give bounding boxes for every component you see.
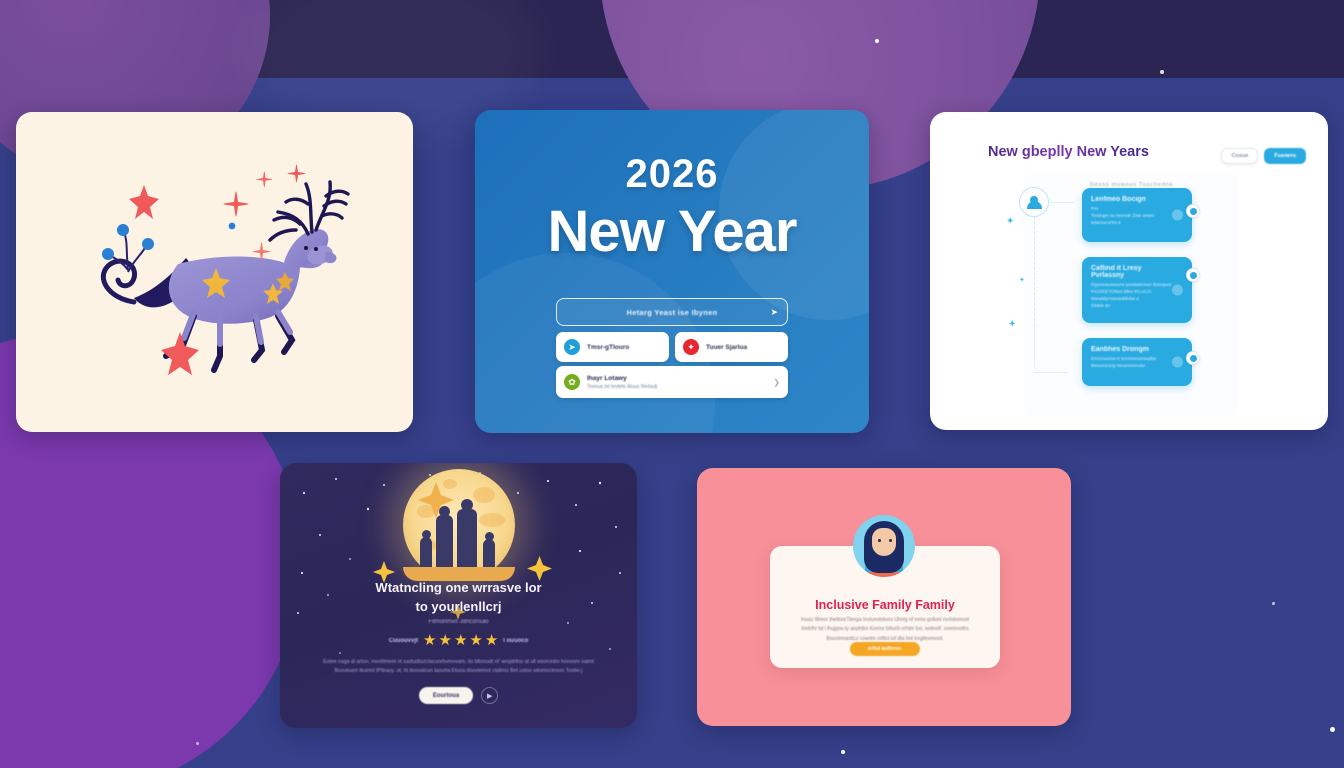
flow-node-3-pin[interactable] (1186, 351, 1200, 365)
quick-action-label-2: Tuuer Sjarlua (706, 344, 747, 351)
flow-node-1-title: Lenfmeo Bocign (1091, 196, 1183, 203)
flow-connector-horizontal (1034, 326, 1068, 372)
moon-cta-row: Eourtoua ▶ (280, 687, 637, 704)
flow-title: New gbeplly New Years (988, 144, 1149, 160)
moon-illustration (403, 469, 515, 581)
family-adult-right (457, 509, 477, 567)
primary-button[interactable]: Fusneru (1264, 148, 1306, 164)
family-adult-left (436, 515, 453, 567)
alert-icon: ✦ (683, 339, 699, 355)
flow-node-3-title: Eanbhes Drongm (1091, 346, 1183, 353)
wide-list-row[interactable]: ✿ Ihayr Lotawy Toonus txt tevtets Aluus … (556, 366, 788, 398)
background-dot (875, 39, 879, 43)
family-child-right-head (485, 532, 494, 541)
star-icon: ★ (438, 633, 451, 648)
family-child-right (483, 539, 495, 567)
deer-svg (16, 112, 413, 432)
flow-actions: Cosue Fusneru (1221, 148, 1306, 164)
card-deer-illustration[interactable] (16, 112, 413, 432)
wide-row-text: Ihayr Lotawy Toonus txt tevtets Aluus Ni… (587, 375, 657, 390)
avatar-face (872, 528, 896, 556)
pink-body-text: Inoaz Wreor thettoorTlenga Invtunvtotvoo… (794, 616, 976, 644)
star-icon: ★ (485, 633, 498, 648)
search-input-value: Hetarg Yeast ise Ibynen (627, 308, 718, 317)
new-year-year: 2026 (475, 152, 869, 197)
moon-cta-button[interactable]: Eourtoua (419, 687, 473, 704)
background-dot (1160, 70, 1164, 74)
flow-node-1[interactable]: Lenfmeo Bocign Pro Toodupn ou Norvuk Znt… (1082, 188, 1192, 242)
clock-icon (1172, 285, 1183, 296)
avatar-body (1027, 201, 1042, 209)
flow-connector-horizontal (1034, 372, 1068, 373)
telegram-icon: ➤ (564, 339, 580, 355)
sparkle-icon: ✦ (1006, 216, 1014, 227)
card-moon-family[interactable]: Wtatncling one wrrasve lor to yourlenllc… (280, 463, 637, 728)
background-dot (1330, 727, 1335, 732)
flow-node-3-body: Drozzuunve-rt trmzizenonsupbu Btnvonzung… (1091, 356, 1183, 370)
star-icon: ★ (454, 633, 467, 648)
background-dot (841, 750, 845, 754)
family-adult-right-head (461, 499, 473, 511)
gear-icon (1172, 210, 1183, 221)
wide-row-subtitle: Toonus txt tevtets Aluus Nivlaulj (587, 384, 657, 390)
moon-headline: Wtatncling one wrrasve lor to yourlenllc… (280, 579, 637, 617)
avatar-eye-left (878, 539, 881, 542)
flow-node-2-pin[interactable] (1186, 268, 1200, 282)
rating-caption-left: Cuuouvvjt (389, 638, 418, 644)
moon-subtitle: Filmonmvo Jdnconsao (280, 619, 637, 625)
family-child-left-head (422, 530, 431, 539)
wide-row-title: Ihayr Lotawy (587, 375, 657, 382)
pink-cta-button[interactable]: mftul auftrron. (850, 642, 920, 656)
flow-node-1-body: Pro Toodupn ou Norvuk Znte anteo telarou… (1091, 206, 1183, 227)
family-child-left (420, 537, 432, 567)
search-input[interactable]: Hetarg Yeast ise Ibynen ➤ (556, 298, 788, 326)
flow-connector-vertical (1034, 216, 1035, 326)
star-rating[interactable]: ★ ★ ★ ★ ★ (423, 633, 498, 648)
woman-avatar-icon (853, 515, 915, 577)
background-dot (196, 742, 199, 745)
star-icon: ★ (469, 633, 482, 648)
sparkle-icon: ✦ (1008, 319, 1016, 330)
leaf-icon: ✿ (564, 374, 580, 390)
play-circle-icon[interactable]: ▶ (481, 687, 498, 704)
card-flow-diagram[interactable]: New gbeplly New Years Cosue Fusneru Gess… (930, 112, 1328, 430)
quick-action-row: ➤ Tmsr-gTlouro ✦ Tuuer Sjarlua (556, 332, 788, 362)
globe-icon (1172, 357, 1183, 368)
flow-node-3[interactable]: Eanbhes Drongm Drozzuunve-rt trmzizenons… (1082, 338, 1192, 386)
quick-action-button-2[interactable]: ✦ Tuuer Sjarlua (675, 332, 788, 362)
chevron-right-icon[interactable]: ❯ (773, 378, 780, 387)
pink-title: Inclusive Family Family (770, 598, 1000, 612)
flow-connector-horizontal (1050, 202, 1074, 203)
flow-node-1-pin[interactable] (1186, 204, 1200, 218)
card-new-year[interactable]: 2026 New Year Hetarg Yeast ise Ibynen ➤ … (475, 110, 869, 433)
flow-node-2[interactable]: Caflind it Lresy Pvrlassny Dyptonaumeune… (1082, 257, 1192, 323)
star-icon: ★ (423, 633, 436, 648)
rating-caption-right: I ouuoco (503, 638, 528, 644)
sparkle-icon: ✦ (1019, 276, 1025, 284)
send-icon[interactable]: ➤ (770, 307, 778, 318)
family-adult-left-head (439, 506, 450, 517)
flow-node-2-title: Caflind it Lresy Pvrlassny (1091, 265, 1183, 279)
cancel-button[interactable]: Cosue (1221, 148, 1258, 164)
new-year-title: New Year (475, 198, 869, 265)
quick-action-button-1[interactable]: ➤ Tmsr-gTlouro (556, 332, 669, 362)
rating-row: Cuuouvvjt ★ ★ ★ ★ ★ I ouuoco (280, 633, 637, 648)
background-dot (1272, 602, 1275, 605)
deer-illustration (16, 112, 413, 432)
flow-node-2-body: Dyptonaumeune pretdattnnun Bumguoi PICDE… (1091, 282, 1183, 310)
avatar-eye-right (889, 539, 892, 542)
card-inclusive-family[interactable]: Inclusive Family Family Inoaz Wreor thet… (697, 468, 1071, 726)
user-avatar-icon (1019, 187, 1049, 217)
moon-body-text: Eotee naga al arton, mvvtilmeet ot sastu… (302, 658, 615, 676)
quick-action-label-1: Tmsr-gTlouro (587, 344, 629, 351)
screenshot-stage: 2026 New Year Hetarg Yeast ise Ibynen ➤ … (0, 0, 1344, 768)
